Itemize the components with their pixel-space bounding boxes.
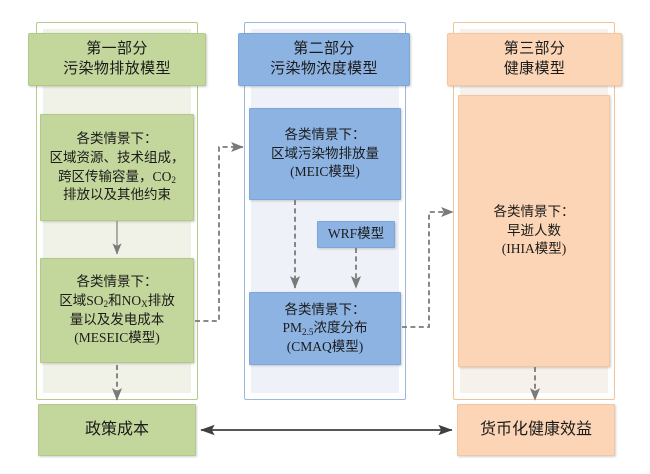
so2-nox-line: 区域SO2和NOX排放	[46, 292, 188, 311]
node-meseic-model: 各类情景下： 区域SO2和NOX排放 量以及发电成本 (MESEIC模型)	[40, 258, 194, 363]
node-monetized-health-benefit-text: 货币化健康效益	[463, 419, 609, 441]
co2-line: 跨区传输容量，CO2	[46, 168, 188, 187]
column-header-part-one-label: 第一部分 污染物排放模型	[63, 40, 171, 80]
node-cmaq-model-text: 各类情景下： PM2.5浓度分布 (CMAQ模型)	[255, 301, 395, 357]
diagram-canvas: 第一部分 污染物排放模型 第二部分 污染物浓度模型 第三部分 健康模型 各类情景…	[0, 0, 650, 474]
node-meic-model: 各类情景下： 区域污染物排放量 (MEIC模型)	[249, 108, 401, 200]
node-cmaq-model: 各类情景下： PM2.5浓度分布 (CMAQ模型)	[249, 292, 401, 365]
node-meic-model-text: 各类情景下： 区域污染物排放量 (MEIC模型)	[255, 126, 395, 182]
node-ihia-model: 各类情景下： 早逝人数 (IHIA模型)	[458, 95, 610, 367]
node-meseic-model-text: 各类情景下： 区域SO2和NOX排放 量以及发电成本 (MESEIC模型)	[46, 273, 188, 348]
node-policy-cost-text: 政策成本	[44, 419, 190, 441]
column-header-part-two: 第二部分 污染物浓度模型	[238, 33, 410, 86]
column-header-part-two-label: 第二部分 污染物浓度模型	[270, 40, 378, 80]
node-wrf-model: WRF模型	[317, 221, 395, 248]
pm25-line: PM2.5浓度分布	[255, 319, 395, 338]
node-resource-constraints-text: 各类情景下： 区域资源、技术组成， 跨区传输容量，CO2 排放以及其他约束	[46, 130, 188, 205]
node-policy-cost: 政策成本	[38, 404, 196, 456]
connector-cmaq-to-ihia	[402, 212, 453, 327]
node-monetized-health-benefit: 货币化健康效益	[457, 404, 615, 456]
node-wrf-model-text: WRF模型	[323, 225, 389, 244]
column-header-part-three-label: 第三部分 健康模型	[504, 40, 566, 80]
node-resource-constraints: 各类情景下： 区域资源、技术组成， 跨区传输容量，CO2 排放以及其他约束	[40, 114, 194, 221]
column-header-part-one: 第一部分 污染物排放模型	[28, 33, 206, 86]
column-header-part-three: 第三部分 健康模型	[447, 33, 622, 86]
node-ihia-model-text: 各类情景下： 早逝人数 (IHIA模型)	[464, 203, 604, 259]
connector-meseic-to-meic	[195, 147, 243, 321]
